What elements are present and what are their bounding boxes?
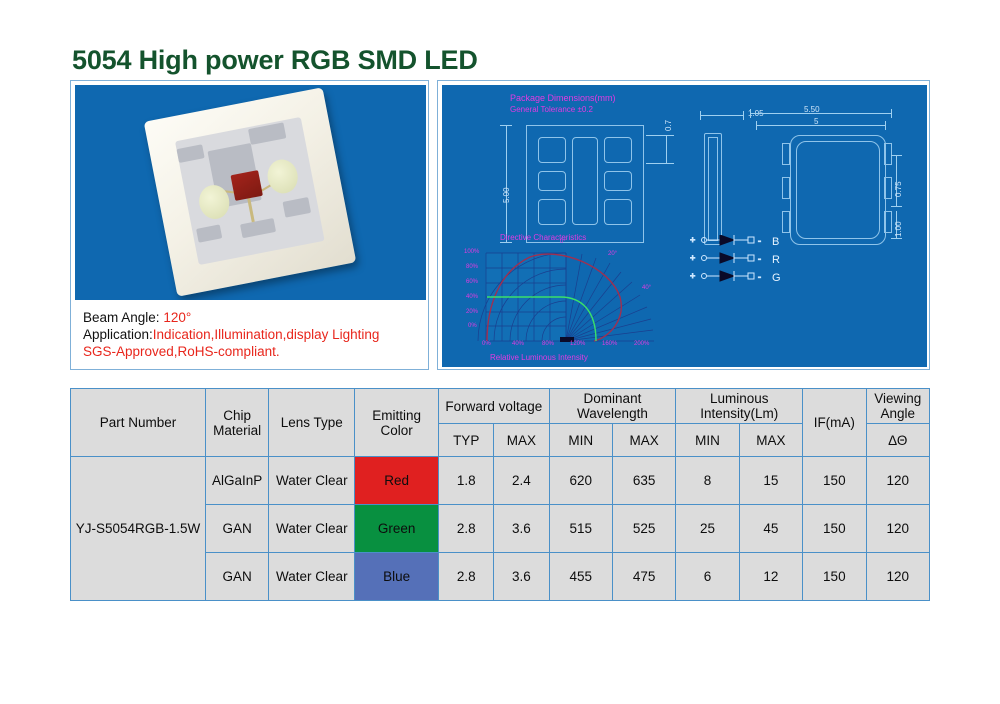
- chart-title: Directive Characteristics: [500, 233, 586, 242]
- dimension-tick: [646, 135, 674, 136]
- dimension-tick: [500, 125, 512, 126]
- svg-text:R: R: [772, 254, 780, 266]
- chart-xlabel-0: 0%: [482, 341, 491, 347]
- header-part-number: Part Number: [71, 389, 206, 457]
- header-lens-type: Lens Type: [269, 389, 355, 457]
- dimension-pad-height: 1.00: [894, 221, 903, 237]
- bottom-view-inner: [796, 141, 880, 239]
- cell-wl-max: 475: [612, 553, 675, 601]
- header-if-ma: IF(mA): [803, 389, 866, 457]
- dimension-tick: [891, 238, 902, 239]
- svg-text:G: G: [772, 272, 781, 284]
- cell-vf-max: 3.6: [494, 553, 549, 601]
- cell-wl-min: 515: [549, 505, 612, 553]
- bottom-view-pad: [884, 211, 892, 233]
- dimension-tick: [885, 121, 886, 130]
- led-die-red: [230, 170, 262, 201]
- directive-characteristics-chart: Directive Characteristics: [460, 233, 665, 361]
- header-wl-min: MIN: [549, 424, 612, 457]
- cell-if-ma: 150: [803, 457, 866, 505]
- product-photo: [75, 85, 426, 300]
- dimension-line: [666, 135, 667, 163]
- application-line: Application:Indication,Illumination,disp…: [83, 326, 426, 343]
- bottom-view-pad: [884, 177, 892, 199]
- cell-wl-min: 620: [549, 457, 612, 505]
- diode-symbols: + - B +: [690, 235, 812, 287]
- header-chip-material: Chip Material: [205, 389, 268, 457]
- cell-if-ma: 150: [803, 553, 866, 601]
- technical-drawing: Package Dimensions(mm) General Tolerance…: [442, 85, 927, 367]
- header-viewing-angle: Viewing Angle: [866, 389, 929, 424]
- cell-lum-min: 6: [676, 553, 739, 601]
- cell-emitting-color: Red: [355, 457, 439, 505]
- cell-view-angle: 120: [866, 553, 929, 601]
- photo-caption: Beam Angle: 120° Application:Indication,…: [75, 305, 426, 365]
- dimension-tick: [891, 109, 892, 118]
- beam-angle-line: Beam Angle: 120°: [83, 309, 426, 326]
- svg-text:+: +: [690, 235, 695, 245]
- header-delta-theta: ΔΘ: [866, 424, 929, 457]
- header-wl-max: MAX: [612, 424, 675, 457]
- tolerance-note: General Tolerance ±0.2: [510, 105, 593, 114]
- cell-vf-typ: 2.8: [439, 553, 494, 601]
- header-luminous-intensity: Luminous Intensity(Lm): [676, 389, 803, 424]
- cell-lum-max: 15: [739, 457, 802, 505]
- cell-if-ma: 150: [803, 505, 866, 553]
- lead-pad: [283, 197, 312, 218]
- cell-chip-material: GAN: [205, 553, 268, 601]
- led-package-body: [144, 87, 357, 296]
- dimension-tick: [756, 121, 757, 130]
- svg-text:-: -: [758, 236, 761, 246]
- chart-angle-20: 20°: [608, 251, 617, 257]
- chart-xlabel: Relative Luminous Intensity: [490, 353, 588, 362]
- dimension-line: [506, 125, 507, 243]
- dimension-width-outer: 5.50: [804, 105, 820, 114]
- technical-drawing-panel: Package Dimensions(mm) General Tolerance…: [437, 80, 930, 370]
- header-dominant-wavelength: Dominant Wavelength: [549, 389, 676, 424]
- cell-chip-material: GAN: [205, 505, 268, 553]
- bottom-view-pad: [782, 211, 790, 233]
- cell-lum-min: 25: [676, 505, 739, 553]
- top-view-lead: [538, 171, 566, 191]
- cell-vf-typ: 1.8: [439, 457, 494, 505]
- product-photo-panel: Beam Angle: 120° Application:Indication,…: [70, 80, 429, 370]
- beam-angle-value: 120°: [163, 310, 191, 325]
- chart-ylabel-20: 20%: [466, 309, 478, 315]
- top-view-lead: [538, 137, 566, 163]
- lead-pad: [248, 122, 286, 145]
- datasheet-page: 5054 High power RGB SMD LED: [0, 0, 1000, 704]
- chart-xlabel-120: 120%: [570, 341, 585, 347]
- bottom-view-pad: [884, 143, 892, 165]
- table-header-row-top: Part Number Chip Material Lens Type Emit…: [71, 389, 930, 424]
- page-title: 5054 High power RGB SMD LED: [72, 45, 478, 76]
- top-view-lead: [604, 171, 632, 191]
- side-view-inner: [708, 137, 718, 241]
- dimension-width-inner: 5: [814, 117, 818, 126]
- cell-lum-min: 8: [676, 457, 739, 505]
- chart-ylabel-60: 60%: [466, 279, 478, 285]
- top-view-die-area: [572, 137, 598, 225]
- led-cavity: [175, 117, 325, 265]
- cell-chip-material: AlGaInP: [205, 457, 268, 505]
- application-label: Application:: [83, 327, 153, 342]
- cell-lens-type: Water Clear: [269, 553, 355, 601]
- svg-text:+: +: [690, 253, 695, 263]
- cell-emitting-color: Green: [355, 505, 439, 553]
- table-row: YJ-S5054RGB-1.5W AlGaInP Water Clear Red…: [71, 457, 930, 505]
- lead-pad: [240, 218, 276, 238]
- beam-angle-label: Beam Angle:: [83, 310, 163, 325]
- dimension-line: [750, 113, 892, 114]
- dimension-tick: [743, 111, 744, 120]
- led-die-blue: [265, 157, 301, 196]
- chart-ylabel-80: 80%: [466, 264, 478, 270]
- cell-lens-type: Water Clear: [269, 505, 355, 553]
- cell-wl-max: 525: [612, 505, 675, 553]
- dimension-tick: [750, 109, 751, 118]
- cell-lum-max: 12: [739, 553, 802, 601]
- bottom-view-pad: [782, 143, 790, 165]
- cell-part-number: YJ-S5054RGB-1.5W: [71, 457, 206, 601]
- chart-xlabel-200: 200%: [634, 341, 649, 347]
- chart-xlabel-80: 80%: [542, 341, 554, 347]
- chart-angle-0: 0°: [560, 239, 566, 245]
- header-forward-voltage: Forward voltage: [439, 389, 549, 424]
- chart-xlabel-40: 40%: [512, 341, 524, 347]
- top-view-lead: [604, 199, 632, 225]
- svg-text:B: B: [772, 236, 779, 248]
- cell-lum-max: 45: [739, 505, 802, 553]
- header-lum-max: MAX: [739, 424, 802, 457]
- polarity-legend: + - B +: [690, 235, 812, 289]
- top-view-lead: [538, 199, 566, 225]
- chart-ylabel-0: 0%: [468, 323, 477, 329]
- bottom-view-pad: [782, 177, 790, 199]
- cell-emitting-color: Blue: [355, 553, 439, 601]
- cell-view-angle: 120: [866, 457, 929, 505]
- chart-xlabel-160: 160%: [602, 341, 617, 347]
- dimension-line: [700, 115, 744, 116]
- dimension-tick: [646, 163, 674, 164]
- header-emitting-color: Emitting Color: [355, 389, 439, 457]
- cell-vf-typ: 2.8: [439, 505, 494, 553]
- lead-pad: [196, 224, 222, 242]
- cell-vf-max: 3.6: [494, 505, 549, 553]
- specification-table: Part Number Chip Material Lens Type Emit…: [70, 388, 930, 601]
- cell-wl-min: 455: [549, 553, 612, 601]
- cell-vf-max: 2.4: [494, 457, 549, 505]
- cell-wl-max: 635: [612, 457, 675, 505]
- dimension-line: [756, 125, 886, 126]
- header-vf-typ: TYP: [439, 424, 494, 457]
- dimension-tick: [891, 206, 902, 207]
- package-dimensions-title: Package Dimensions(mm): [510, 93, 616, 103]
- certification-line: SGS-Approved,RoHS-compliant.: [83, 343, 426, 360]
- svg-text:-: -: [758, 272, 761, 282]
- dimension-tick: [700, 111, 701, 120]
- dimension-height-left: 5.00: [502, 187, 511, 203]
- dimension-pad-pitch: 0.75: [894, 181, 903, 197]
- cell-lens-type: Water Clear: [269, 457, 355, 505]
- cell-view-angle: 120: [866, 505, 929, 553]
- application-value: Indication,Illumination,display Lighting: [153, 327, 380, 342]
- chart-angle-40: 40°: [642, 285, 651, 291]
- dimension-tick: [891, 155, 902, 156]
- header-vf-max: MAX: [494, 424, 549, 457]
- header-lum-min: MIN: [676, 424, 739, 457]
- dimension-pad-gap: 0.7: [664, 120, 673, 131]
- svg-text:-: -: [758, 254, 761, 264]
- lead-pad: [176, 144, 204, 163]
- top-view-lead: [604, 137, 632, 163]
- chart-ylabel-100: 100%: [464, 249, 479, 255]
- chart-ylabel-40: 40%: [466, 294, 478, 300]
- svg-text:+: +: [690, 271, 695, 281]
